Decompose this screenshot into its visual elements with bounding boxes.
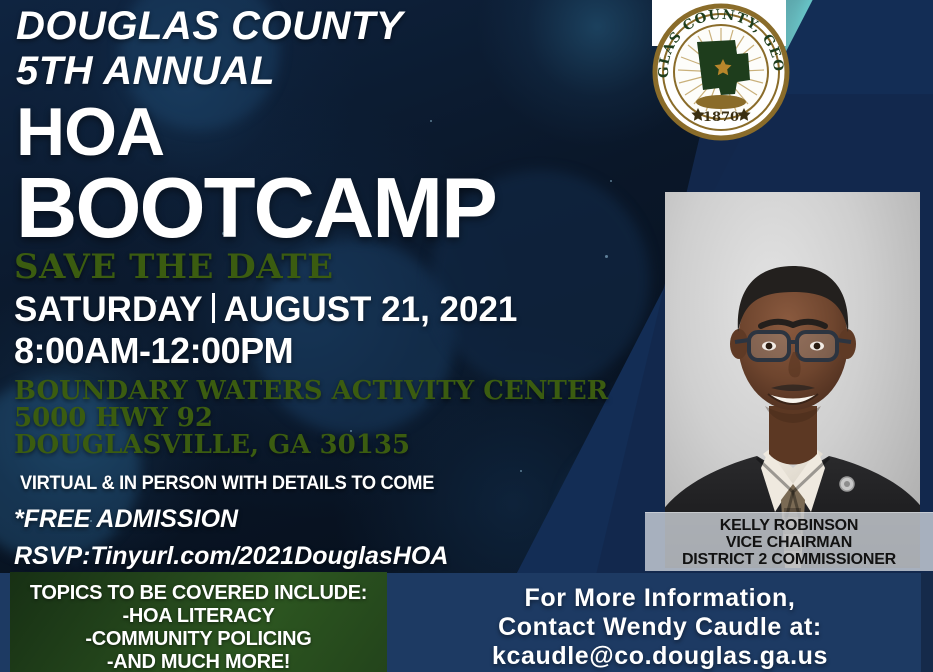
headline-line-2: 5TH ANNUAL (16, 49, 656, 94)
event-time: 8:00AM-12:00PM (14, 330, 614, 372)
event-details-block: SAVE THE DATE SATURDAY AUGUST 21, 2021 8… (14, 248, 614, 572)
admission-note: *FREE ADMISSION (14, 503, 614, 535)
event-date: AUGUST 21, 2021 (224, 290, 518, 330)
topic-item: -AND MUCH MORE! (107, 651, 290, 672)
contact-box: For More Information, Contact Wendy Caud… (400, 578, 920, 672)
topic-item: -COMMUNITY POLICING (85, 628, 311, 651)
topics-box: TOPICS TO BE COVERED INCLUDE: -HOA LITER… (10, 572, 387, 672)
headline-bootcamp: BOOTCAMP (16, 168, 656, 250)
seal-year: 1870 (703, 110, 739, 125)
portrait-caption: KELLY ROBINSON VICE CHAIRMAN DISTRICT 2 … (645, 512, 933, 571)
save-the-date-label: SAVE THE DATE (14, 248, 614, 286)
headline-hoa: HOA (16, 96, 656, 168)
date-separator (212, 293, 215, 323)
venue-block: BOUNDARY WATERS ACTIVITY CENTER 5000 HWY… (14, 378, 614, 458)
contact-line-2: Contact Wendy Caudle at: (498, 613, 822, 642)
format-note: VIRTUAL & IN PERSON WITH DETAILS TO COME (20, 472, 590, 496)
bottom-band-right-edge (921, 573, 933, 672)
county-seal-icon: 1870 DOUGLAS COUNTY, GEORGIA (651, 2, 791, 142)
headline-line-1: DOUGLAS COUNTY (16, 4, 656, 49)
portrait-name: KELLY ROBINSON (720, 517, 859, 534)
venue-street: 5000 HWY 92 (14, 405, 614, 431)
venue-city: DOUGLASVILLE, GA 30135 (14, 432, 614, 458)
event-day: SATURDAY (14, 290, 203, 330)
flyer-poster: 1870 DOUGLAS COUNTY, GEORGIA DOUGLAS COU… (0, 0, 933, 672)
portrait-title: VICE CHAIRMAN (726, 534, 852, 551)
topics-heading: TOPICS TO BE COVERED INCLUDE: (30, 582, 367, 605)
contact-line-1: For More Information, (525, 584, 796, 613)
portrait-role: DISTRICT 2 COMMISSIONER (682, 551, 896, 568)
contact-email[interactable]: kcaudle@co.douglas.ga.us (492, 642, 828, 671)
topic-item: -HOA LITERACY (122, 605, 274, 628)
event-date-line: SATURDAY AUGUST 21, 2021 (14, 290, 614, 330)
rsvp-link[interactable]: RSVP:Tinyurl.com/2021DouglasHOA (14, 540, 614, 572)
headline-block: DOUGLAS COUNTY 5TH ANNUAL HOA BOOTCAMP (16, 4, 656, 250)
venue-name: BOUNDARY WATERS ACTIVITY CENTER (14, 378, 614, 404)
